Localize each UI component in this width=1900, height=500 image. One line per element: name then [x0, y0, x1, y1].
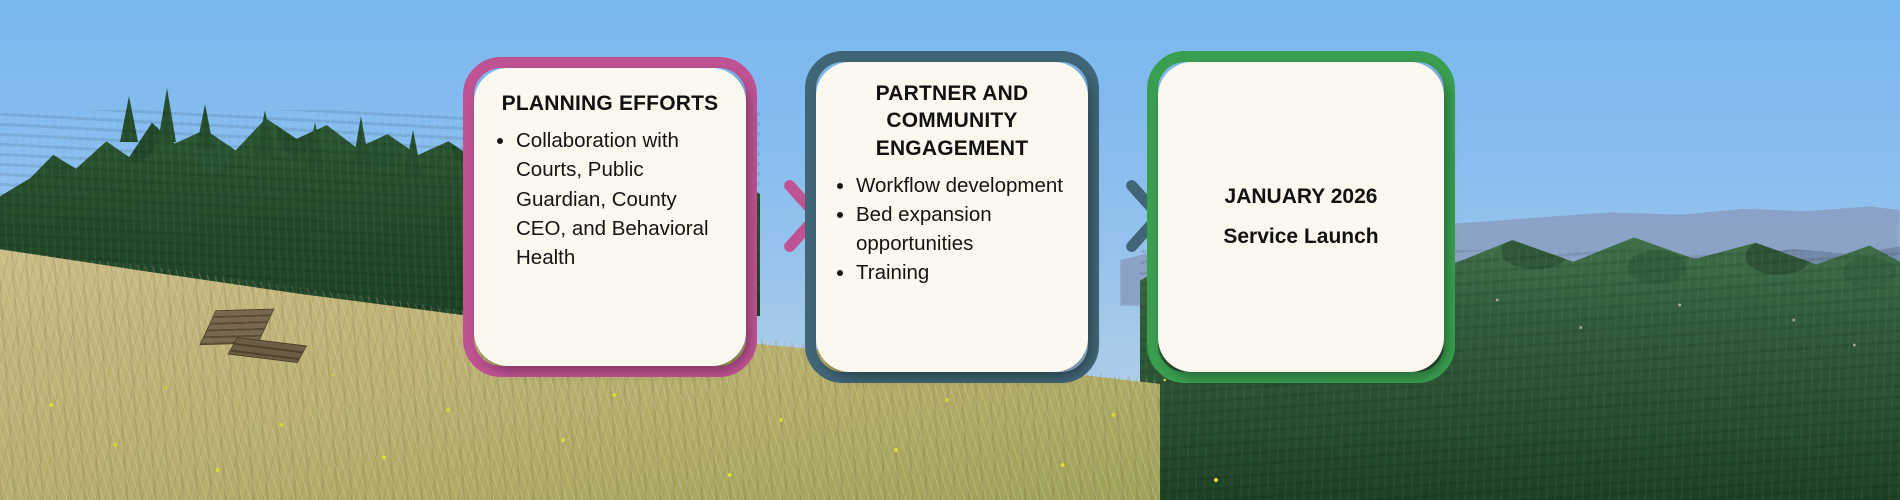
- list-item: Workflow development: [856, 171, 1070, 200]
- process-flow: PLANNING EFFORTS Collaboration with Cour…: [0, 0, 1900, 500]
- step-2-bullet-list: Workflow development Bed expansion oppor…: [834, 171, 1070, 287]
- infographic-canvas: PLANNING EFFORTS Collaboration with Cour…: [0, 0, 1900, 500]
- step-3-title: JANUARY 2026: [1225, 177, 1378, 217]
- step-1-title: PLANNING EFFORTS: [502, 90, 719, 117]
- list-item: Collaboration with Courts, Public Guardi…: [516, 126, 726, 272]
- step-card-service-launch[interactable]: JANUARY 2026 Service Launch: [1158, 62, 1444, 372]
- step-card-partner-community-engagement[interactable]: PARTNER AND COMMUNITY ENGAGEMENT Workflo…: [816, 62, 1088, 372]
- list-item: Training: [856, 258, 1070, 287]
- step-3-text-stack: JANUARY 2026 Service Launch: [1158, 177, 1444, 257]
- list-item: Bed expansion opportunities: [856, 200, 1070, 258]
- step-card-planning-efforts[interactable]: PLANNING EFFORTS Collaboration with Cour…: [474, 68, 746, 366]
- step-3-subtitle: Service Launch: [1223, 217, 1378, 257]
- step-1-bullet-list: Collaboration with Courts, Public Guardi…: [494, 126, 726, 272]
- step-2-title: PARTNER AND COMMUNITY ENGAGEMENT: [834, 80, 1070, 162]
